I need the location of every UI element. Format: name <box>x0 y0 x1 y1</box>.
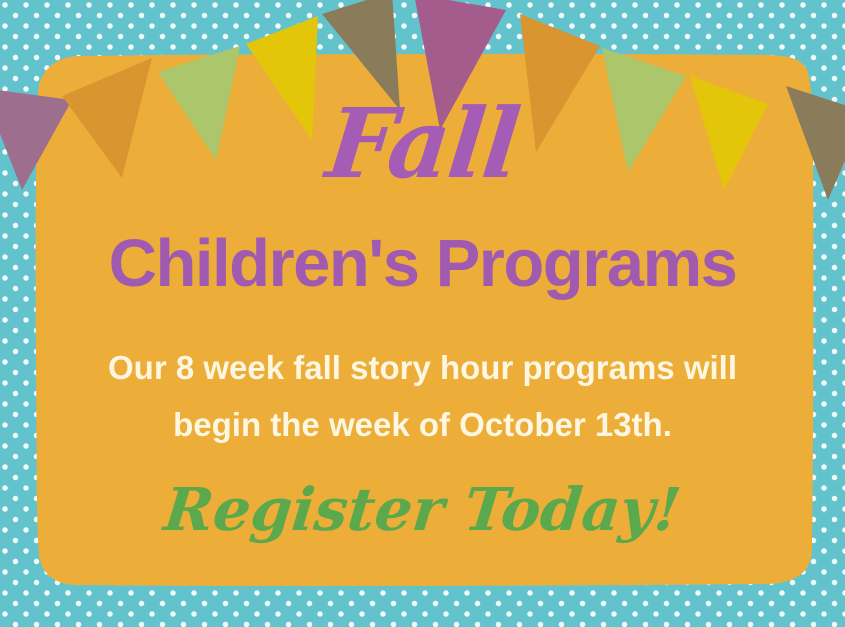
pennant-mauve-2 <box>414 0 506 130</box>
bunting-banner <box>0 0 845 627</box>
pennant-olive-2 <box>786 86 845 200</box>
pennant-gold-2 <box>690 76 768 190</box>
pennant-olive-1 <box>322 0 400 110</box>
poster-canvas: Fall Children's Programs Our 8 week fall… <box>0 0 845 627</box>
pennant-mauve-1 <box>0 88 72 190</box>
pennant-gold-1 <box>246 16 318 140</box>
pennant-ochre-2 <box>520 14 600 152</box>
pennant-green-2 <box>602 48 686 172</box>
pennant-ochre-1 <box>62 58 152 178</box>
pennant-green-1 <box>158 46 240 160</box>
